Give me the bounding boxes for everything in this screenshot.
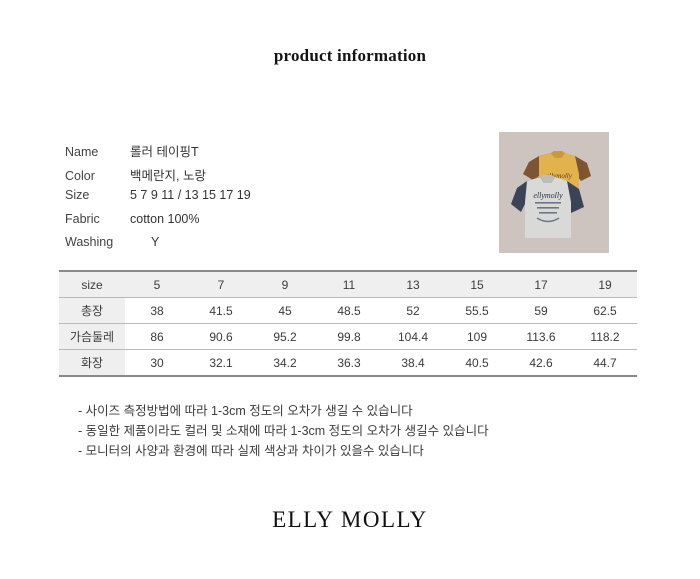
table-header-13: 13 [381, 271, 445, 298]
product-photo-illustration: ellymolly ellymolly [499, 132, 609, 253]
spec-row-name: Name 롤러 테이핑T [65, 141, 465, 165]
spec-value-size: 5 7 9 11 / 13 15 17 19 [130, 188, 251, 202]
cell-chest-11: 99.8 [317, 324, 381, 350]
cell-chest-5: 86 [125, 324, 189, 350]
cell-sleeve-7: 32.1 [189, 350, 253, 377]
brand-logo: ELLY MOLLY [0, 507, 700, 533]
note-line-material: - 동일한 제품이라도 컬러 및 소재에 따라 1-3cm 정도의 오차가 생길… [78, 421, 618, 441]
row-label-length: 총장 [59, 298, 125, 324]
cell-chest-13: 104.4 [381, 324, 445, 350]
spec-value-name: 롤러 테이핑T [130, 141, 199, 160]
row-label-chest: 가슴둘레 [59, 324, 125, 350]
spec-label-washing: Washing [65, 235, 130, 249]
table-row: 화장 30 32.1 34.2 36.3 38.4 40.5 42.6 44.7 [59, 350, 637, 377]
spec-label-color: Color [65, 169, 130, 183]
table-header-9: 9 [253, 271, 317, 298]
product-spec-list: Name 롤러 테이핑T Color 백메란지, 노랑 Size 5 7 9 1… [65, 141, 465, 259]
table-header-15: 15 [445, 271, 509, 298]
spec-label-name: Name [65, 145, 130, 159]
spec-row-fabric: Fabric cotton 100% [65, 212, 465, 236]
table-header-5: 5 [125, 271, 189, 298]
cell-length-17: 59 [509, 298, 573, 324]
cell-length-9: 45 [253, 298, 317, 324]
note-line-measurement: - 사이즈 측정방법에 따라 1-3cm 정도의 오차가 생길 수 있습니다 [78, 401, 618, 421]
svg-text:ellymolly: ellymolly [533, 191, 563, 200]
note-line-monitor: - 모니터의 사양과 환경에 따라 실제 색상과 차이가 있을수 있습니다 [78, 441, 618, 461]
cell-length-11: 48.5 [317, 298, 381, 324]
cell-sleeve-15: 40.5 [445, 350, 509, 377]
table-header-size: size [59, 271, 125, 298]
table-header-17: 17 [509, 271, 573, 298]
table-header-7: 7 [189, 271, 253, 298]
spec-label-size: Size [65, 188, 130, 202]
cell-chest-7: 90.6 [189, 324, 253, 350]
table-row: 가슴둘레 86 90.6 95.2 99.8 104.4 109 113.6 1… [59, 324, 637, 350]
cell-chest-15: 109 [445, 324, 509, 350]
cell-chest-9: 95.2 [253, 324, 317, 350]
table-row: 총장 38 41.5 45 48.5 52 55.5 59 62.5 [59, 298, 637, 324]
cell-length-5: 38 [125, 298, 189, 324]
cell-sleeve-5: 30 [125, 350, 189, 377]
cell-sleeve-19: 44.7 [573, 350, 637, 377]
table-header-row: size 5 7 9 11 13 15 17 19 [59, 271, 637, 298]
table-header-19: 19 [573, 271, 637, 298]
cell-sleeve-9: 34.2 [253, 350, 317, 377]
spec-row-size: Size 5 7 9 11 / 13 15 17 19 [65, 188, 465, 212]
disclaimer-notes: - 사이즈 측정방법에 따라 1-3cm 정도의 오차가 생길 수 있습니다 -… [78, 401, 618, 461]
spec-row-washing: Washing Y [65, 235, 465, 259]
spec-value-washing: Y [130, 235, 159, 249]
table-header-11: 11 [317, 271, 381, 298]
cell-length-13: 52 [381, 298, 445, 324]
cell-sleeve-11: 36.3 [317, 350, 381, 377]
cell-chest-19: 118.2 [573, 324, 637, 350]
cell-sleeve-13: 38.4 [381, 350, 445, 377]
cell-length-19: 62.5 [573, 298, 637, 324]
spec-row-color: Color 백메란지, 노랑 [65, 165, 465, 189]
cell-length-15: 55.5 [445, 298, 509, 324]
cell-chest-17: 113.6 [509, 324, 573, 350]
row-label-sleeve: 화장 [59, 350, 125, 377]
size-measurement-table: size 5 7 9 11 13 15 17 19 총장 38 41.5 45 … [59, 270, 637, 377]
spec-value-fabric: cotton 100% [130, 212, 200, 226]
spec-value-color: 백메란지, 노랑 [130, 165, 206, 184]
page-title: product information [0, 46, 700, 66]
cell-sleeve-17: 42.6 [509, 350, 573, 377]
cell-length-7: 41.5 [189, 298, 253, 324]
product-photo: ellymolly ellymolly [499, 132, 609, 253]
spec-label-fabric: Fabric [65, 212, 130, 226]
